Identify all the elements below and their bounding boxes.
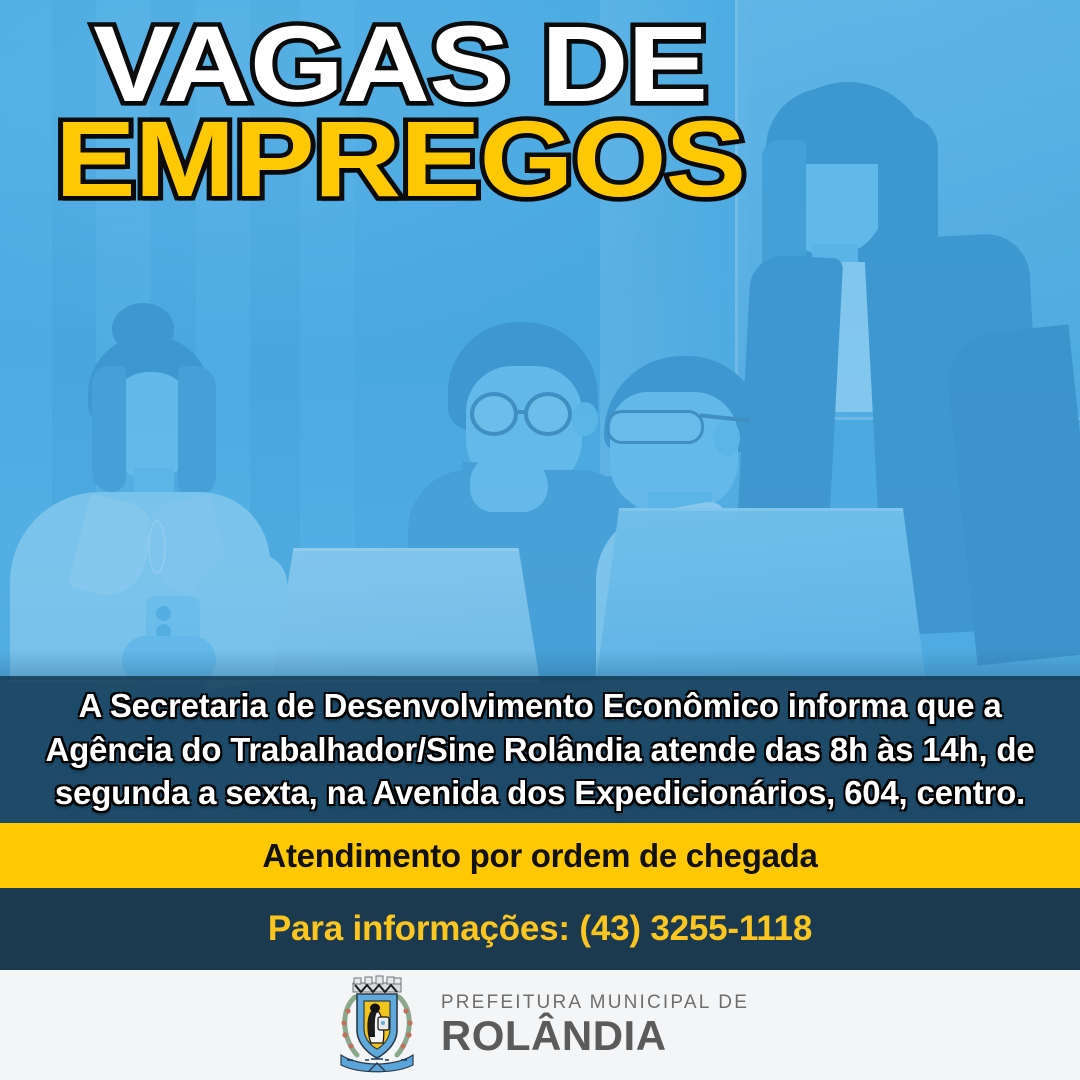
contact-band: Para informações: (43) 3255-1118 [0, 888, 1080, 970]
queue-notice-text: Atendimento por ordem de chegada [262, 837, 817, 875]
info-band: A Secretaria de Desenvolvimento Econômic… [0, 676, 1080, 823]
poster-headline: VAGAS DE EMPREGOS [0, 14, 800, 209]
footer-logo-line-2: ROLÂNDIA [441, 1015, 749, 1057]
info-band-text: A Secretaria de Desenvolvimento Econômic… [14, 684, 1066, 816]
job-vacancy-poster: VAGAS DE EMPREGOS A Secretaria de Desenv… [0, 0, 1080, 1080]
headline-line-2: EMPREGOS [0, 109, 848, 208]
footer-logo-line-1: PREFEITURA MUNICIPAL DE [441, 993, 749, 1012]
contact-phone-text[interactable]: Para informações: (43) 3255-1118 [268, 909, 812, 949]
queue-notice-band: Atendimento por ordem de chegada [0, 823, 1080, 888]
coat-of-arms-icon [331, 975, 423, 1075]
footer-logo-bar: PREFEITURA MUNICIPAL DE ROLÂNDIA [0, 970, 1080, 1080]
footer-logo-text: PREFEITURA MUNICIPAL DE ROLÂNDIA [441, 993, 749, 1057]
